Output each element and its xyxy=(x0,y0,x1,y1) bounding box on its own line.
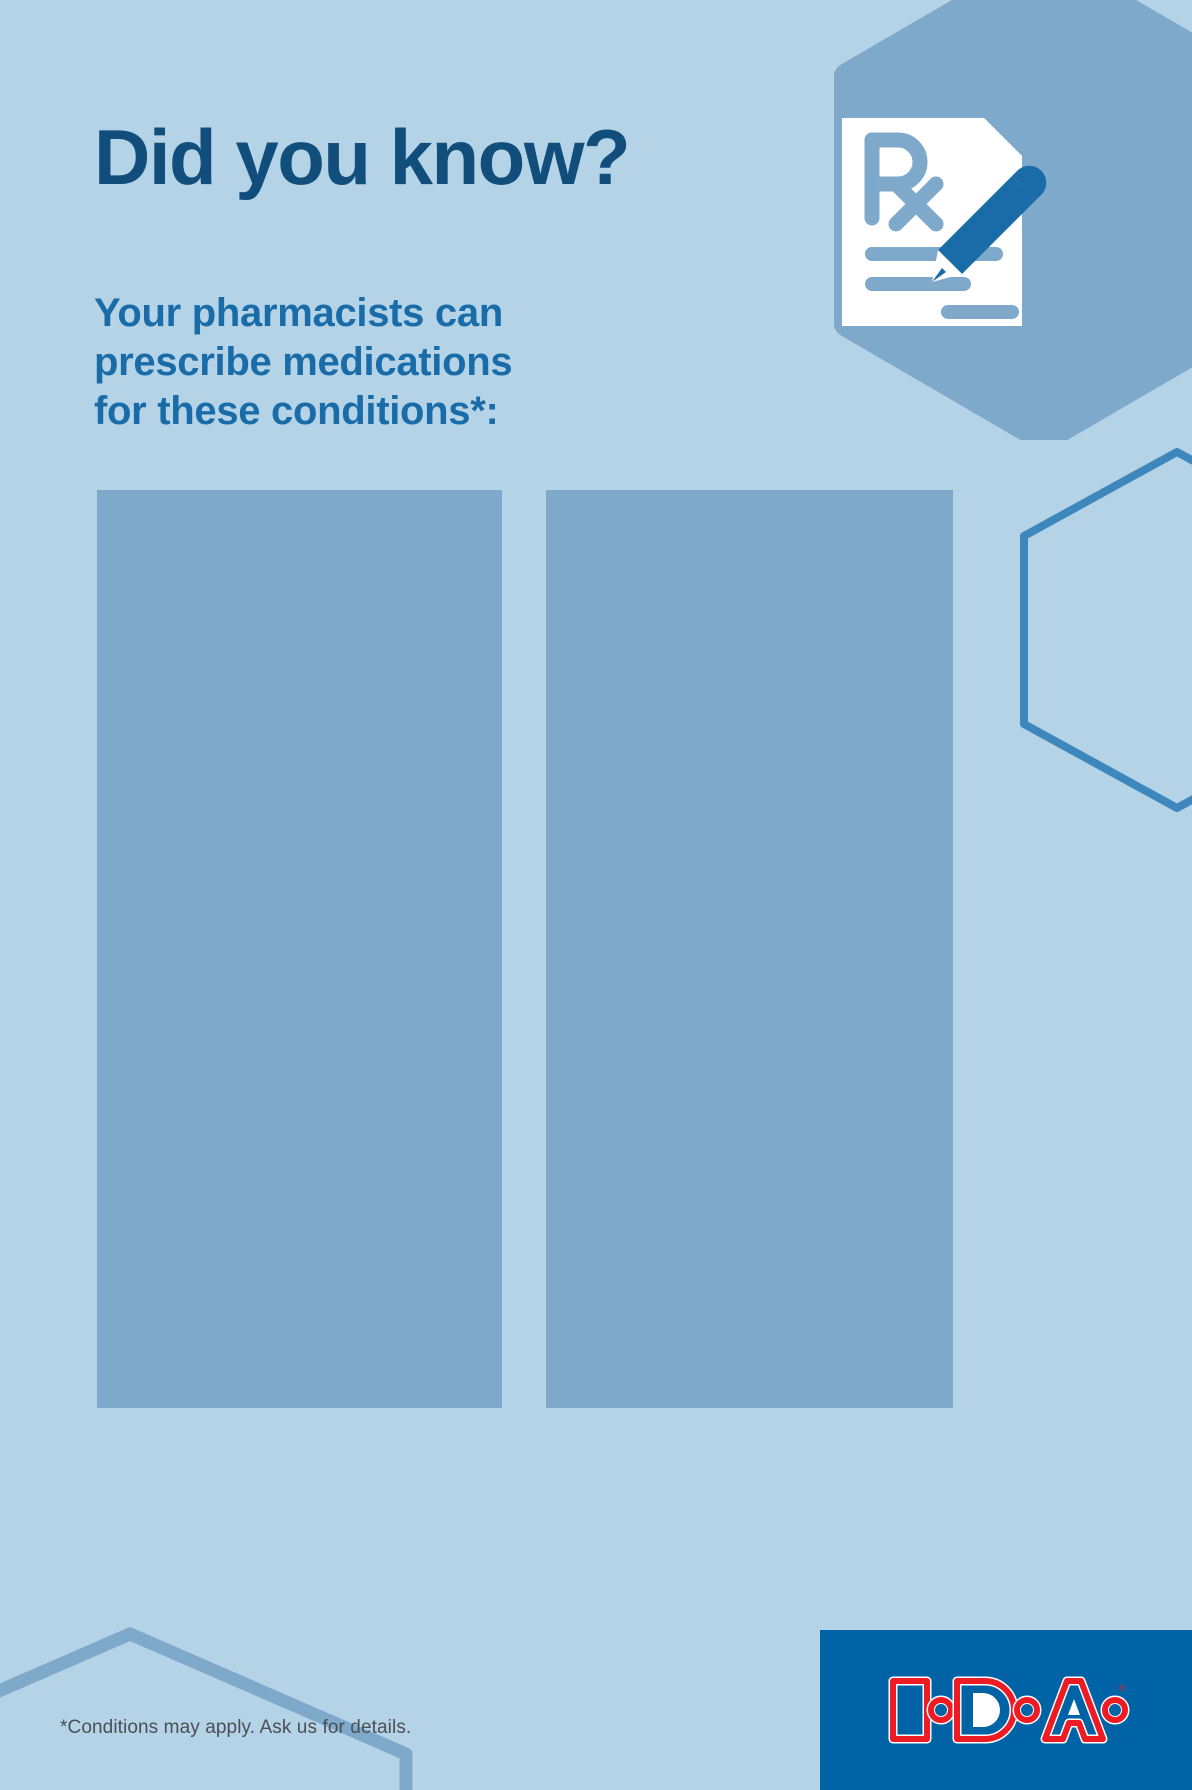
conditions-panel-group xyxy=(97,490,953,1408)
conditions-panel-right xyxy=(546,490,953,1408)
poster-canvas: Did you know? Your pharmacists can presc… xyxy=(0,0,1192,1790)
page-title: Did you know? xyxy=(94,118,629,196)
footnote-disclaimer: *Conditions may apply. Ask us for detail… xyxy=(60,1717,411,1739)
hexagon-outline-decoration-right xyxy=(1012,440,1192,820)
ida-logo: ® xyxy=(881,1671,1131,1749)
registered-trademark-symbol: ® xyxy=(1119,1683,1126,1693)
hexagon-outline-decoration-bottom-left xyxy=(0,1620,420,1790)
subheading-line-3: for these conditions*: xyxy=(94,387,512,436)
subheading-line-1: Your pharmacists can xyxy=(94,289,512,338)
subheading-line-2: prescribe medications xyxy=(94,338,512,387)
brand-logo-block: ® xyxy=(820,1630,1192,1790)
rx-prescription-document-icon xyxy=(836,112,1054,332)
conditions-panel-left xyxy=(97,490,502,1408)
subheading: Your pharmacists can prescribe medicatio… xyxy=(94,289,512,435)
